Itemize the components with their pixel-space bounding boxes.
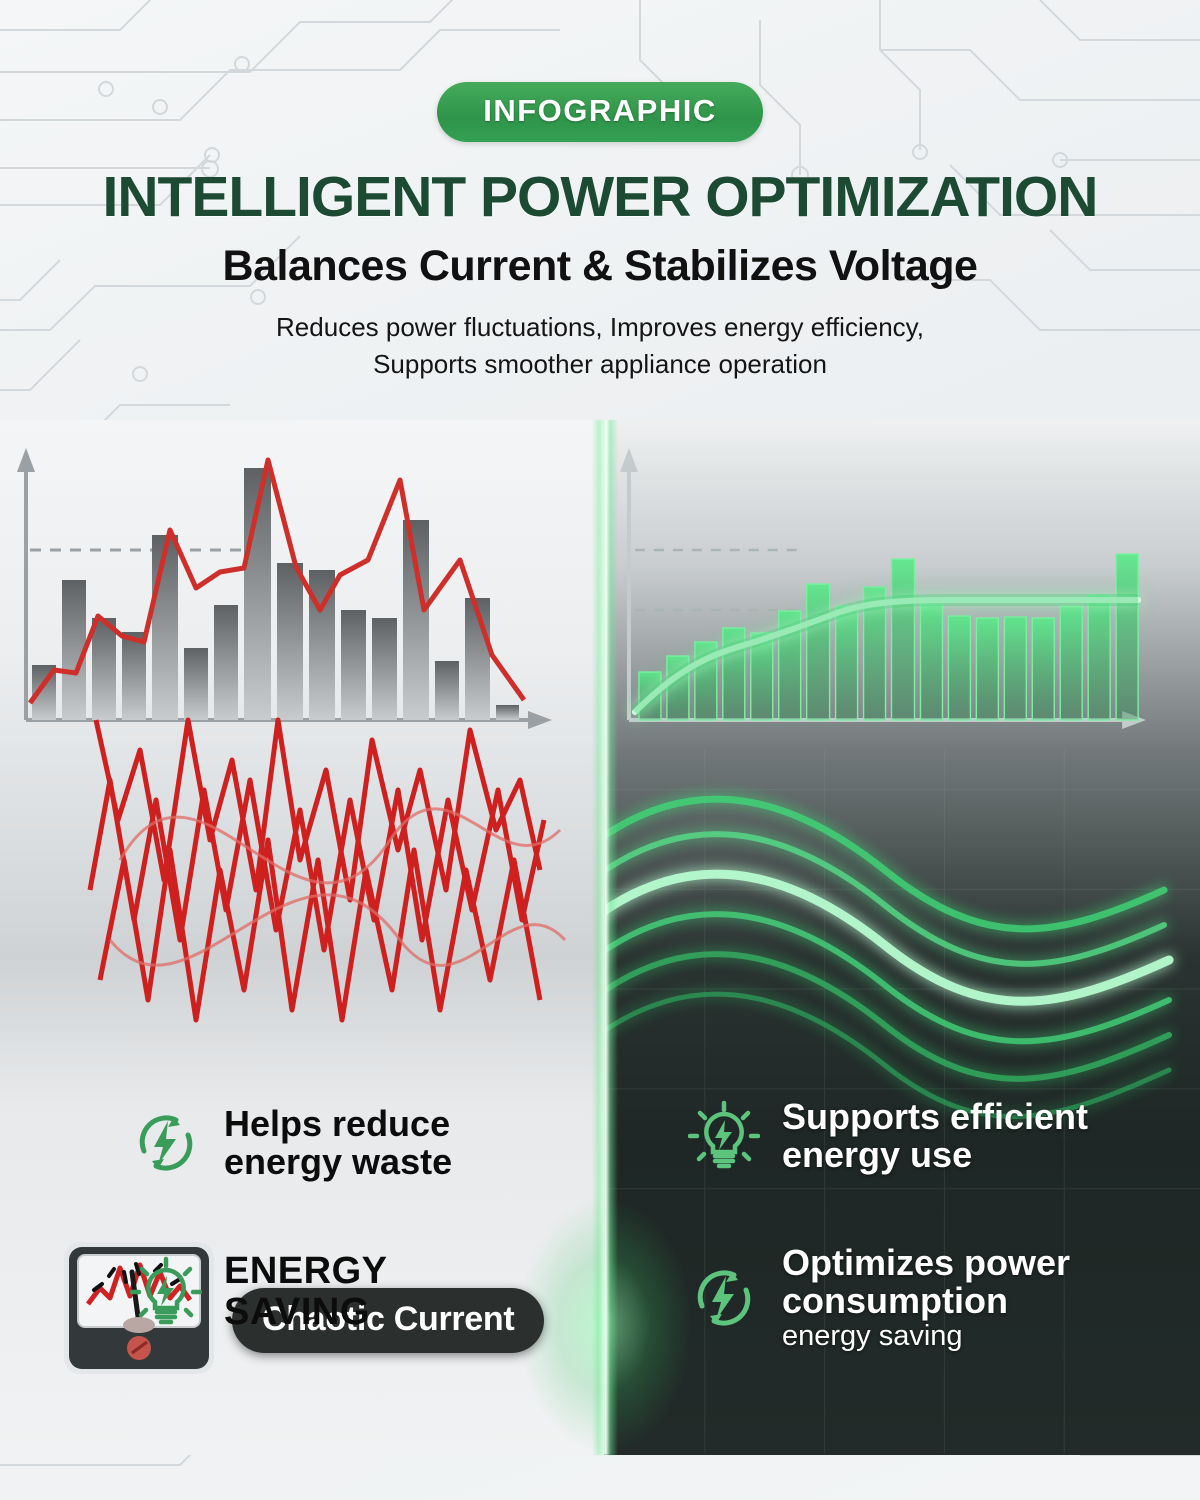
feature-line-1: Helps reduce — [224, 1105, 452, 1143]
right-bars — [639, 554, 1138, 720]
feature-line-2: consumption — [782, 1282, 1070, 1320]
page-description: Reduces power fluctuations, Improves ene… — [0, 309, 1200, 383]
description-line-2: Supports smoother appliance operation — [0, 346, 1200, 383]
features-right-list: Supports efficient energy use Optimizes … — [688, 1098, 1148, 1421]
lightbulb-bolt-icon — [688, 1100, 760, 1172]
feature-line-2: energy waste — [224, 1143, 452, 1181]
feature-line-2: SAVING — [224, 1292, 387, 1332]
list-item-text: ENERGY SAVING — [224, 1251, 387, 1332]
feature-line-3: energy saving — [782, 1321, 1070, 1352]
page-subtitle: Balances Current & Stabilizes Voltage — [0, 242, 1200, 291]
infographic-badge: INFOGRAPHIC — [437, 82, 763, 142]
list-item-text: Helps reduce energy waste — [224, 1105, 452, 1181]
feature-line-1: ENERGY — [224, 1251, 387, 1291]
lightbulb-bolt-icon — [130, 1256, 202, 1328]
list-item: ENERGY SAVING — [130, 1251, 580, 1332]
feature-line-1: Optimizes power — [782, 1244, 1070, 1282]
recycle-bolt-icon — [688, 1262, 760, 1334]
list-item-text: Optimizes power consumption energy savin… — [782, 1244, 1070, 1351]
feature-line-1: Supports efficient — [782, 1098, 1088, 1136]
list-item: Supports efficient energy use — [688, 1098, 1148, 1174]
header-section: INFOGRAPHIC INTELLIGENT POWER OPTIMIZATI… — [0, 0, 1200, 420]
list-item: Optimizes power consumption energy savin… — [688, 1244, 1148, 1351]
list-item-text: Supports efficient energy use — [782, 1098, 1088, 1174]
page-title: INTELLIGENT POWER OPTIMIZATION — [0, 164, 1200, 230]
list-item: Helps reduce energy waste — [130, 1105, 580, 1181]
recycle-bolt-icon — [130, 1107, 202, 1179]
description-line-1: Reduces power fluctuations, Improves ene… — [0, 309, 1200, 346]
feature-line-2: energy use — [782, 1136, 1088, 1174]
right-stable-waves — [605, 799, 1169, 1116]
left-bars — [32, 468, 519, 720]
features-left-list: Helps reduce energy waste ENERGY SA — [130, 1105, 580, 1402]
left-chaotic-waveform — [90, 720, 544, 1020]
